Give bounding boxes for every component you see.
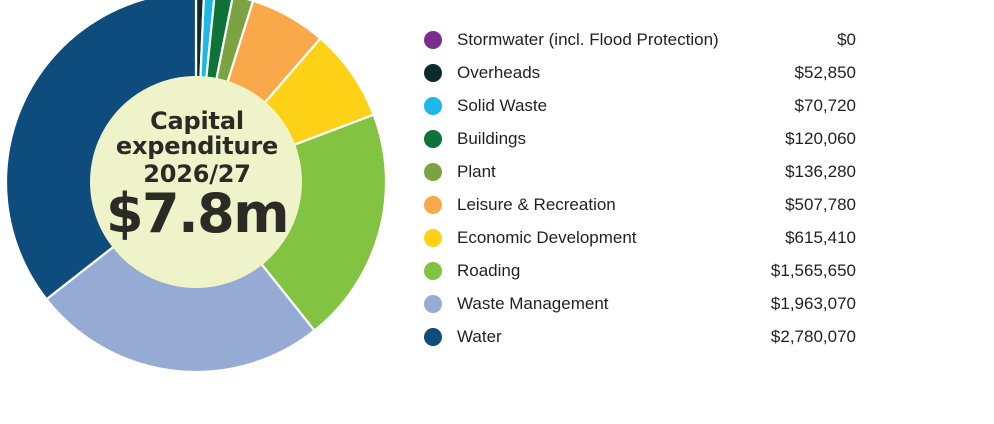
legend-color-swatch-icon	[424, 262, 442, 280]
legend-item[interactable]: Economic Development$615,410	[424, 221, 856, 254]
legend-item-label: Waste Management	[457, 294, 761, 314]
legend-item-label: Solid Waste	[457, 96, 785, 116]
legend-item[interactable]: Water$2,780,070	[424, 320, 856, 353]
legend-color-swatch-icon	[424, 229, 442, 247]
legend-item-value: $1,963,070	[761, 294, 856, 314]
legend-item-value: $0	[827, 30, 856, 50]
legend-item-label: Water	[457, 327, 761, 347]
legend-color-swatch-icon	[424, 64, 442, 82]
legend-item-label: Buildings	[457, 129, 775, 149]
legend-item-label: Overheads	[457, 63, 785, 83]
legend-item-value: $136,280	[775, 162, 856, 182]
legend-color-swatch-icon	[424, 328, 442, 346]
legend-item[interactable]: Plant$136,280	[424, 155, 856, 188]
legend-item-value: $507,780	[775, 195, 856, 215]
legend-item[interactable]: Leisure & Recreation$507,780	[424, 188, 856, 221]
legend-item[interactable]: Buildings$120,060	[424, 122, 856, 155]
legend-color-swatch-icon	[424, 31, 442, 49]
legend-item-value: $52,850	[785, 63, 856, 83]
legend-item-label: Leisure & Recreation	[457, 195, 775, 215]
donut-chart: Capital expenditure 2026/27 $7.8m	[0, 0, 400, 392]
legend-color-swatch-icon	[424, 130, 442, 148]
donut-inner-disc	[90, 76, 302, 288]
capital-expenditure-donut-chart: Capital expenditure 2026/27 $7.8m Stormw…	[0, 0, 994, 424]
legend-item-value: $615,410	[775, 228, 856, 248]
legend-item-value: $1,565,650	[761, 261, 856, 281]
legend-item-value: $2,780,070	[761, 327, 856, 347]
legend-item[interactable]: Overheads$52,850	[424, 56, 856, 89]
chart-legend: Stormwater (incl. Flood Protection)$0Ove…	[424, 23, 856, 353]
legend-item[interactable]: Solid Waste$70,720	[424, 89, 856, 122]
legend-item-value: $120,060	[775, 129, 856, 149]
legend-color-swatch-icon	[424, 295, 442, 313]
legend-item[interactable]: Roading$1,565,650	[424, 254, 856, 287]
legend-color-swatch-icon	[424, 196, 442, 214]
legend-color-swatch-icon	[424, 163, 442, 181]
legend-item-label: Plant	[457, 162, 775, 182]
legend-item-value: $70,720	[785, 96, 856, 116]
legend-item-label: Roading	[457, 261, 761, 281]
legend-color-swatch-icon	[424, 97, 442, 115]
legend-item-label: Economic Development	[457, 228, 775, 248]
legend-item[interactable]: Stormwater (incl. Flood Protection)$0	[424, 23, 856, 56]
legend-item[interactable]: Waste Management$1,963,070	[424, 287, 856, 320]
donut-chart-svg	[0, 0, 400, 392]
legend-item-label: Stormwater (incl. Flood Protection)	[457, 30, 827, 50]
